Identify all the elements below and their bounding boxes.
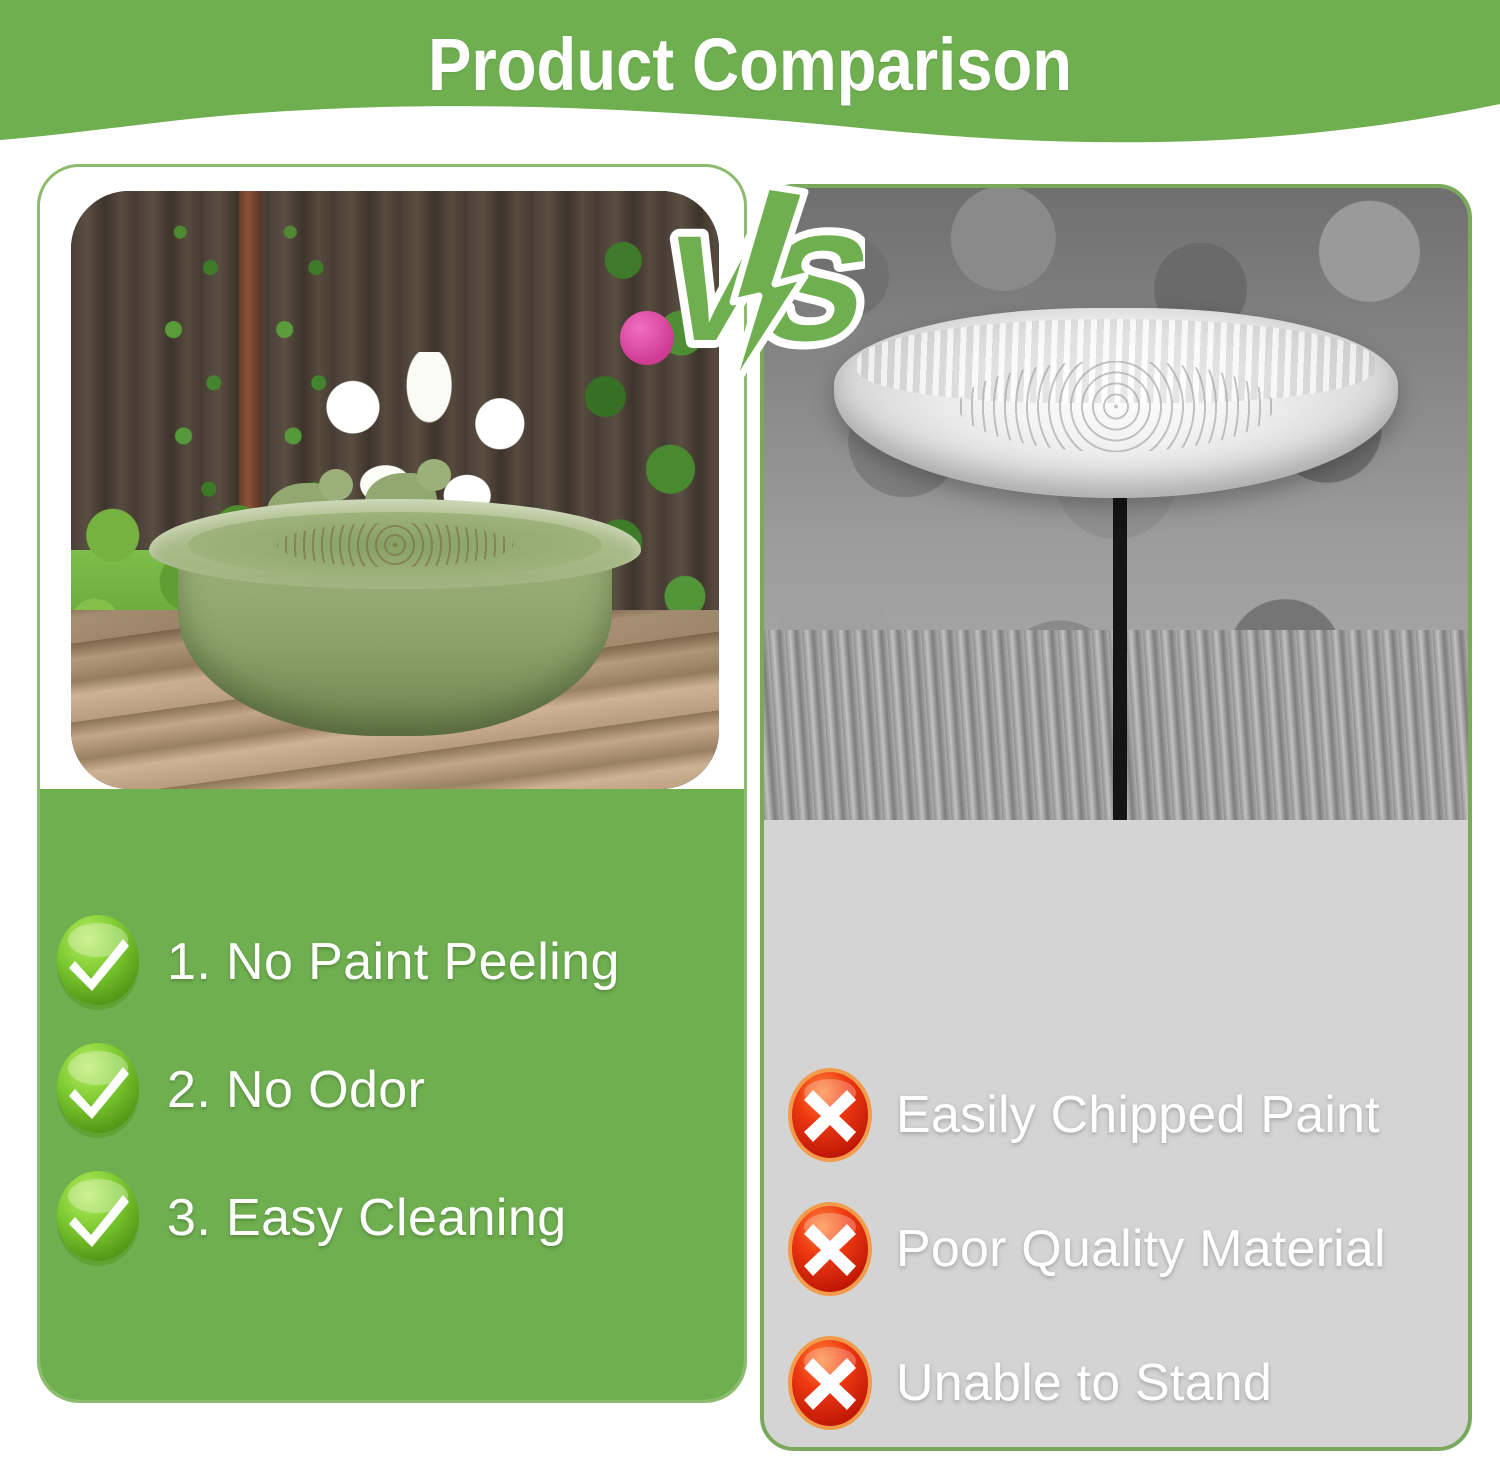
list-item: Easily Chipped Paint (786, 1048, 1486, 1182)
check-circle-icon (55, 1169, 141, 1267)
glass-ripple-rings (958, 361, 1273, 452)
list-item: 1. No Paint Peeling (55, 898, 735, 1026)
list-item-label: Unable to Stand (896, 1353, 1272, 1413)
page-title: Product Comparison (90, 22, 1410, 107)
list-item: 2. No Odor (55, 1026, 735, 1154)
pros-list: 1. No Paint Peeling 2. No Odor (55, 898, 735, 1282)
metal-stake (1113, 466, 1127, 820)
list-item: Poor Quality Material (786, 1182, 1486, 1316)
garden-scene-image (71, 191, 719, 789)
bowl-sunflower-pattern (277, 523, 513, 568)
list-item-label: Easily Chipped Paint (896, 1085, 1380, 1145)
list-item: Unable to Stand (786, 1316, 1486, 1450)
infographic-canvas: Product Comparison (0, 0, 1500, 1463)
cross-circle-icon (786, 1199, 874, 1299)
check-circle-icon (55, 913, 141, 1011)
header-banner: Product Comparison (0, 0, 1500, 150)
list-item: 3. Easy Cleaning (55, 1154, 735, 1282)
right-product-photo (764, 188, 1468, 820)
cons-list: Easily Chipped Paint Poor Quality Materi… (786, 1048, 1486, 1450)
pink-peony-flower (620, 311, 674, 365)
glass-bird-bath-dish (834, 308, 1397, 498)
check-circle-icon (55, 1041, 141, 1139)
list-item-label: 3. Easy Cleaning (167, 1188, 567, 1248)
ceramic-bird-bath (149, 478, 641, 741)
list-item-label: 1. No Paint Peeling (167, 932, 620, 992)
list-item-label: Poor Quality Material (896, 1219, 1386, 1279)
left-product-photo (71, 191, 719, 789)
list-item-label: 2. No Odor (167, 1060, 425, 1120)
cross-circle-icon (786, 1065, 874, 1165)
cross-circle-icon (786, 1333, 874, 1433)
